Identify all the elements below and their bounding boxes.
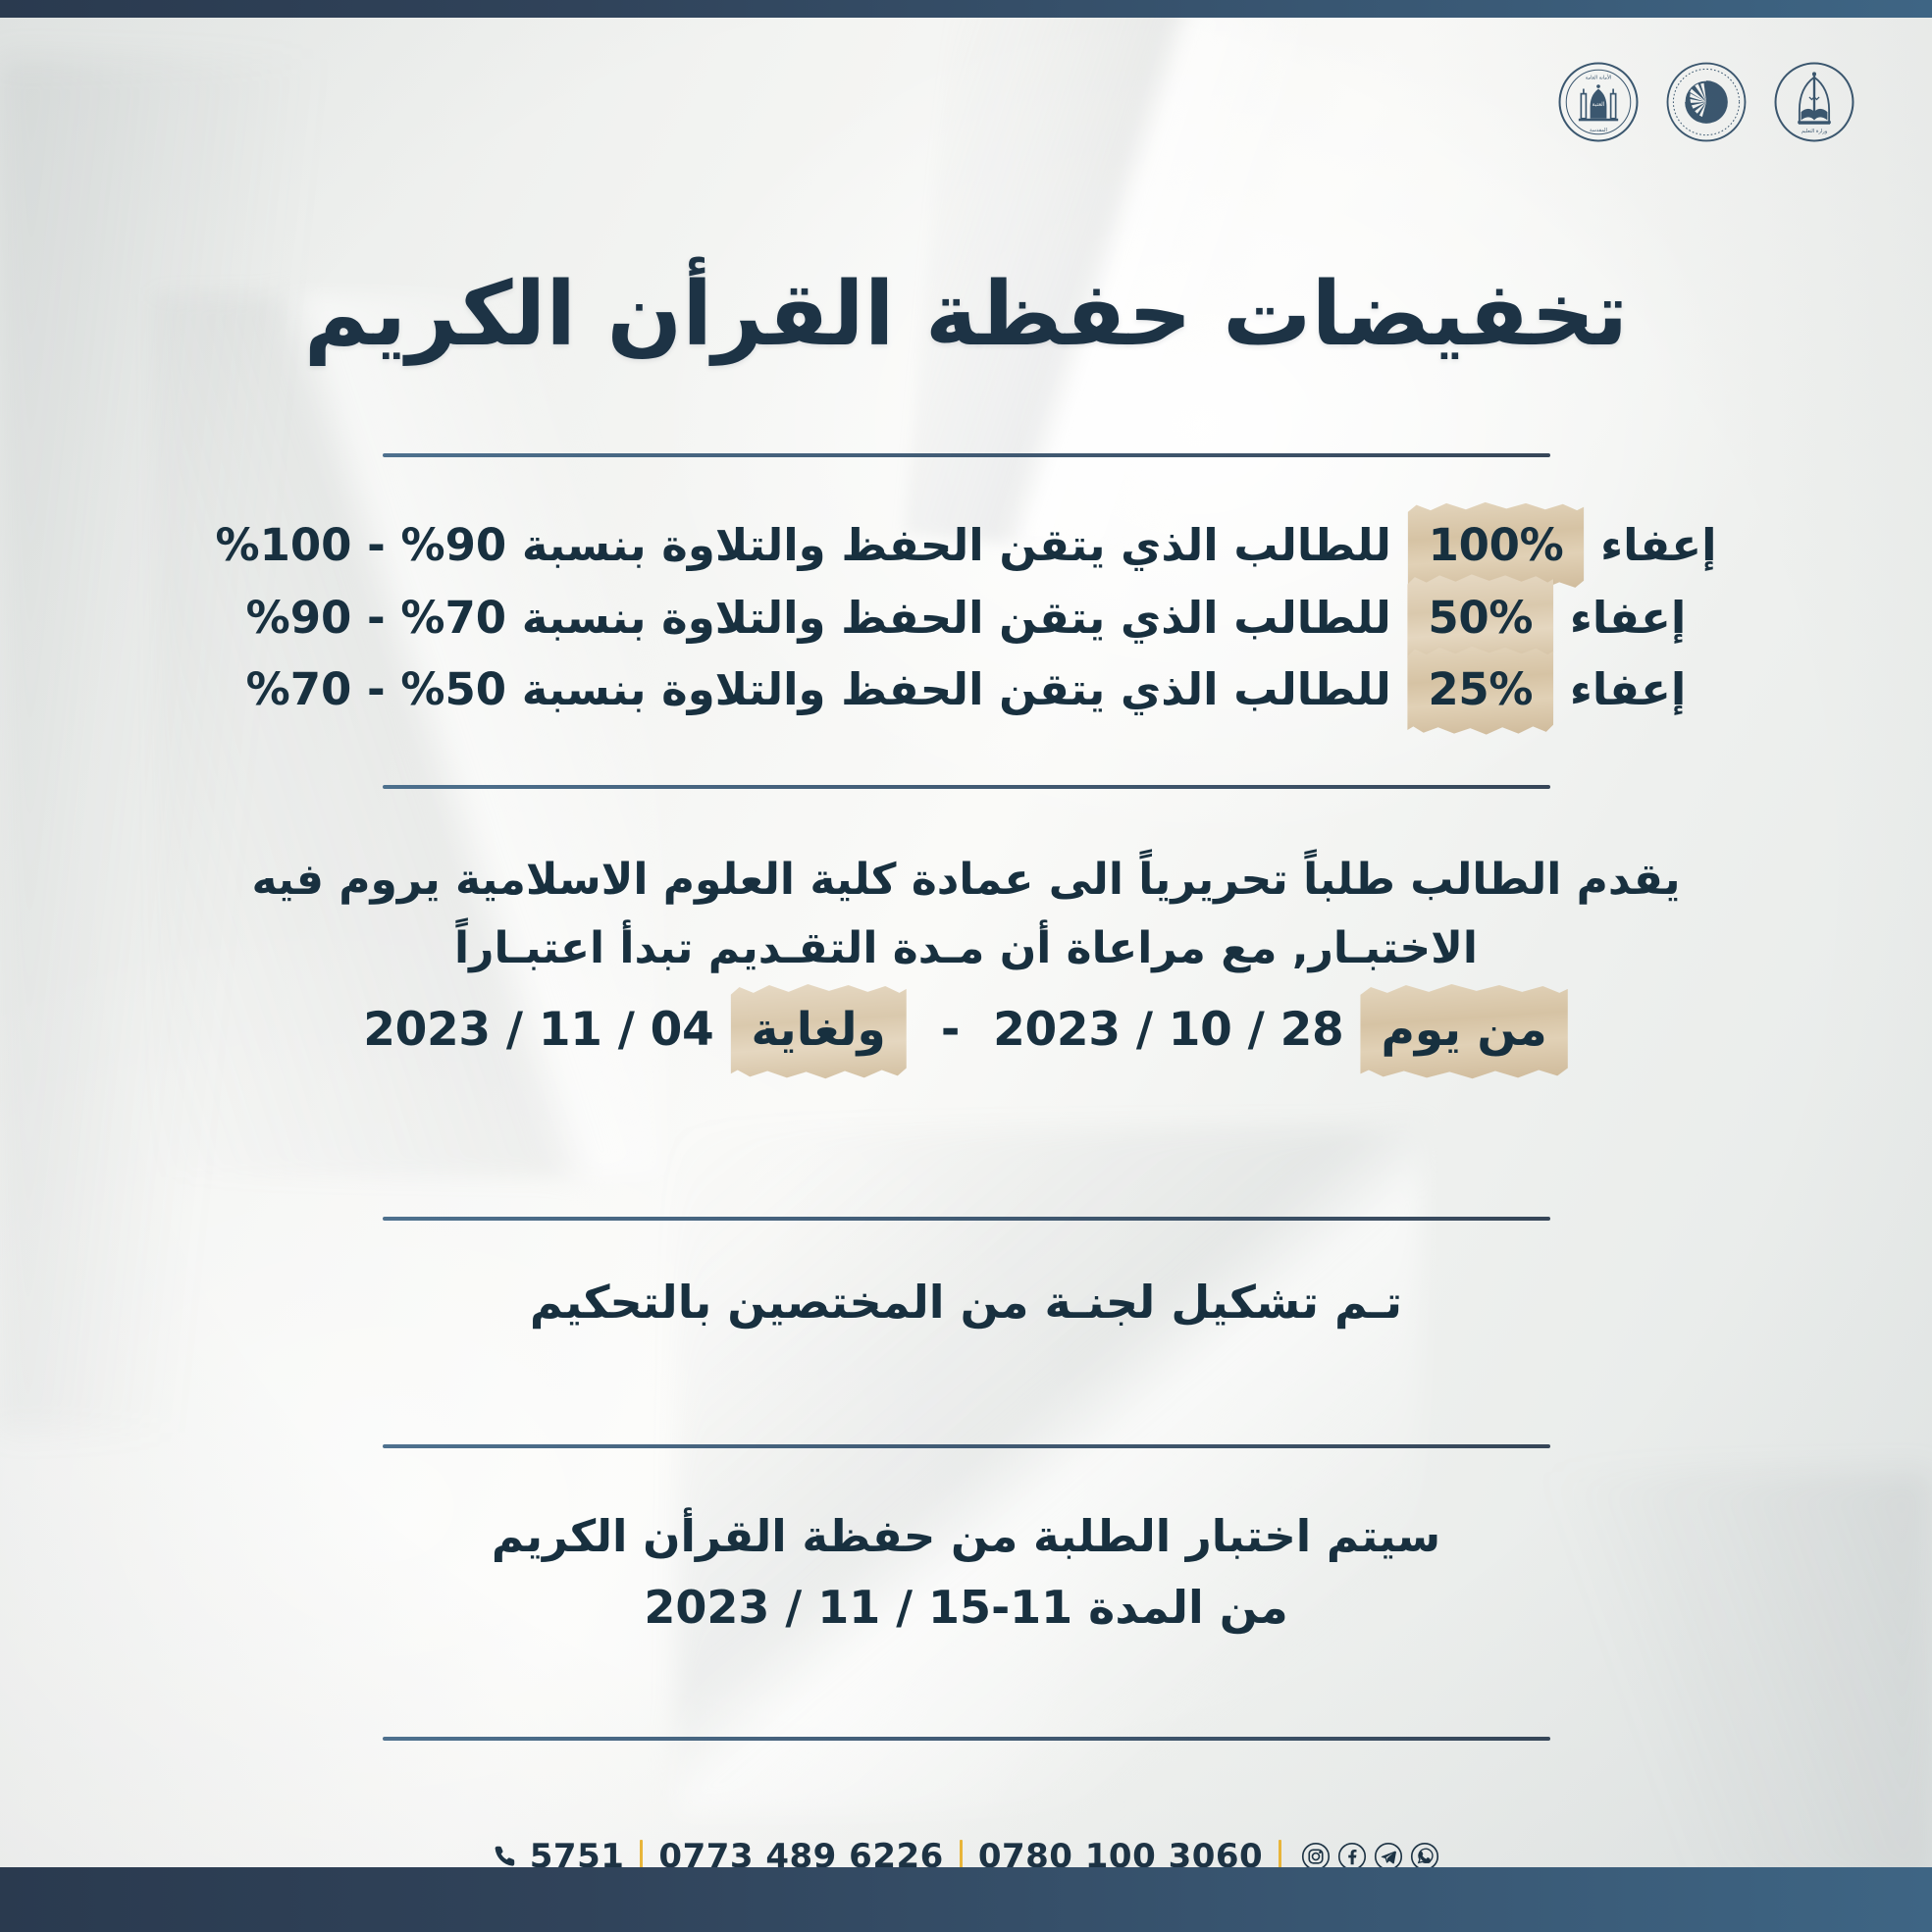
svg-text:العتبة: العتبة	[1593, 102, 1605, 108]
university-seal	[1665, 61, 1748, 143]
discount-range: 70% - 90%	[246, 592, 506, 644]
logo-group: وزارة التعليم	[1557, 61, 1855, 143]
exam-line-2: من المدة 11-15 / 11 / 2023	[0, 1572, 1932, 1645]
top-accent-bar	[0, 0, 1932, 18]
discount-prefix: إعفاء	[1570, 592, 1686, 644]
section-divider	[383, 785, 1550, 789]
section-divider	[383, 1217, 1550, 1221]
date-to-label-highlight: ولغاية	[735, 992, 903, 1070]
date-from-label-highlight: من يوم	[1364, 992, 1563, 1070]
section-divider	[383, 1737, 1550, 1741]
al-ataba-al-abbasiya-seal: العتبة الأمانة العامة المقدسة	[1557, 61, 1640, 143]
discount-prefix: إعفاء	[1570, 663, 1686, 715]
exam-line-1: سيتم اختبار الطلبة من حفظة القرأن الكريم	[0, 1501, 1932, 1572]
discount-condition: للطالب الذي يتقن الحفظ والتلاوة بنسبة	[522, 519, 1391, 571]
discount-row: إعفاء 25% للطالب الذي يتقن الحفظ والتلاو…	[0, 654, 1932, 727]
discount-prefix: إعفاء	[1600, 519, 1716, 571]
page-title: تخفيضات حفظة القرأن الكريم	[0, 263, 1932, 366]
phone-icon	[493, 1844, 518, 1869]
application-line-2: الاختبـار, مع مراعاة أن مـدة التقـديم تب…	[0, 914, 1932, 983]
section-divider	[383, 453, 1550, 457]
committee-emphasis: المختصين بالتحكيم	[530, 1276, 945, 1329]
discount-amount-highlight: 100%	[1412, 510, 1581, 583]
svg-text:الأمانة العامة: الأمانة العامة	[1586, 74, 1611, 80]
section-divider	[383, 1444, 1550, 1448]
exam-section: سيتم اختبار الطلبة من حفظة القرأن الكريم…	[0, 1501, 1932, 1645]
discount-amount-highlight: 50%	[1411, 583, 1549, 655]
svg-text:وزارة التعليم: وزارة التعليم	[1801, 129, 1828, 134]
date-range-separator: -	[941, 994, 960, 1067]
discount-row: إعفاء 100% للطالب الذي يتقن الحفظ والتلا…	[0, 510, 1932, 583]
discount-condition: للطالب الذي يتقن الحفظ والتلاوة بنسبة	[522, 592, 1391, 644]
committee-section: تـم تشكيل لجنـة من المختصين بالتحكيم	[0, 1276, 1932, 1329]
bottom-accent-bar	[0, 1867, 1932, 1932]
date-to-value: 04 / 11 / 2023	[363, 1003, 713, 1057]
discount-row: إعفاء 50% للطالب الذي يتقن الحفظ والتلاو…	[0, 583, 1932, 655]
application-dates: من يوم 28 / 10 / 2023 - ولغاية 04 / 11 /…	[0, 992, 1932, 1070]
discount-range: 50% - 70%	[246, 663, 506, 715]
discount-amount-highlight: 25%	[1411, 654, 1549, 727]
application-section: يقدم الطالب طلباً تحريرياً الى عمادة كلي…	[0, 846, 1932, 1070]
ministry-of-higher-education-iraq-seal: وزارة التعليم	[1773, 61, 1855, 143]
committee-text: تـم تشكيل لجنـة من	[945, 1276, 1403, 1329]
poster-canvas: وزارة التعليم	[0, 0, 1932, 1932]
date-from-value: 28 / 10 / 2023	[993, 1003, 1343, 1057]
discounts-section: إعفاء 100% للطالب الذي يتقن الحفظ والتلا…	[0, 510, 1932, 727]
svg-text:المقدسة: المقدسة	[1590, 128, 1607, 133]
discount-range: 90% - 100%	[215, 519, 506, 571]
discount-condition: للطالب الذي يتقن الحفظ والتلاوة بنسبة	[522, 663, 1391, 715]
application-line-1: يقدم الطالب طلباً تحريرياً الى عمادة كلي…	[0, 846, 1932, 914]
